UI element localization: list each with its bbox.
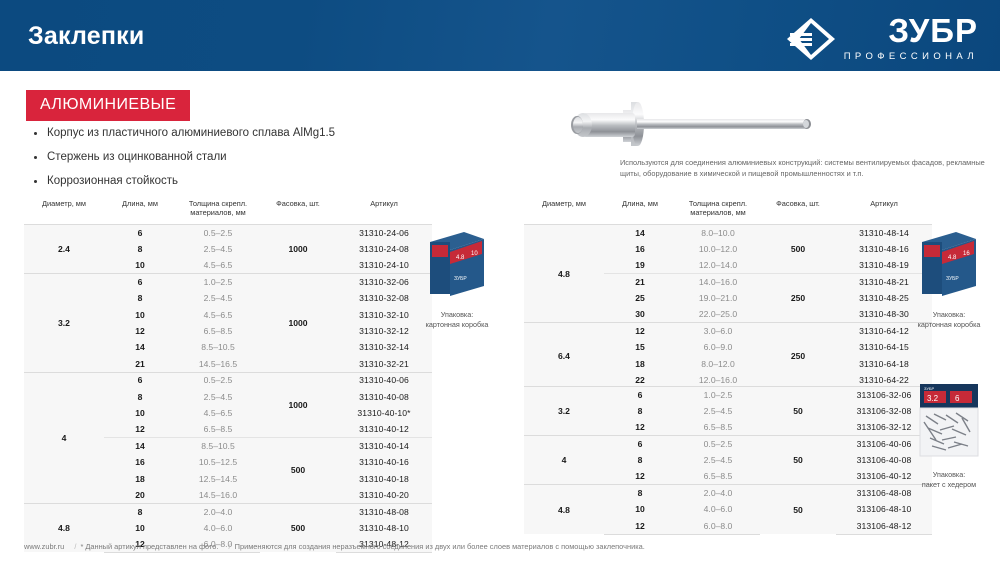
package-caption-line1: Упаковка: xyxy=(404,310,510,320)
table-aluminium-rivets-left: Диаметр, мм Длина, мм Толщина скрепл. ма… xyxy=(24,196,432,553)
table-body: 2.460.5–2.5100031310-24-0682.5–4.531310-… xyxy=(24,225,432,553)
bullet-icon xyxy=(34,132,37,135)
cell-thickness: 14.5–16.5 xyxy=(176,356,260,372)
col-header-length: Длина, мм xyxy=(604,196,676,225)
cell-article: 31310-32-14 xyxy=(336,339,432,355)
cell-length: 6 xyxy=(104,372,176,388)
footer-site[interactable]: www.zubr.ru xyxy=(24,542,64,551)
cell-thickness: 8.0–10.0 xyxy=(676,225,760,241)
cell-article: 31310-40-20 xyxy=(336,487,432,503)
package-caption-line1: Упаковка: xyxy=(896,310,1000,320)
cell-length: 12 xyxy=(604,468,676,484)
cell-thickness: 4.0–6.0 xyxy=(676,501,760,517)
bullet-icon xyxy=(34,156,37,159)
zubr-logo-icon xyxy=(785,16,837,62)
page-title: Заклепки xyxy=(28,22,144,51)
cell-article: 31310-32-21 xyxy=(336,356,432,372)
svg-text:10: 10 xyxy=(471,251,478,257)
list-item: Корпус из пластичного алюминиевого сплав… xyxy=(28,126,428,140)
cell-thickness: 0.5–2.5 xyxy=(676,436,760,452)
brand-name: ЗУБР xyxy=(888,14,978,47)
cell-length: 15 xyxy=(604,339,676,355)
svg-text:ЗУБР: ЗУБР xyxy=(924,386,935,391)
cell-thickness: 1.0–2.5 xyxy=(176,274,260,290)
cell-length: 8 xyxy=(604,403,676,419)
table-row: 460.5–2.550313106-40-06 xyxy=(524,436,932,452)
feature-list: Корпус из пластичного алюминиевого сплав… xyxy=(28,126,428,198)
cell-packing: 1000 xyxy=(260,274,336,372)
table-row: 2.460.5–2.5100031310-24-06 xyxy=(24,225,432,241)
cell-length: 10 xyxy=(104,520,176,536)
cell-article: 31310-40-18 xyxy=(336,470,432,486)
svg-text:3.2: 3.2 xyxy=(927,394,939,403)
feature-text: Стержень из оцинкованной стали xyxy=(47,150,227,164)
cell-length: 8 xyxy=(104,241,176,257)
list-item: Коррозионная стойкость xyxy=(28,174,428,188)
cell-length: 10 xyxy=(604,501,676,517)
cell-length: 10 xyxy=(104,306,176,322)
cell-diameter: 3.2 xyxy=(524,387,604,436)
cell-thickness: 8.0–12.0 xyxy=(676,356,760,372)
cell-length: 10 xyxy=(104,257,176,273)
cell-packing: 250 xyxy=(760,274,836,323)
col-header-packing: Фасовка, шт. xyxy=(760,196,836,225)
cell-length: 12 xyxy=(104,323,176,339)
cell-thickness: 4.5–6.5 xyxy=(176,257,260,273)
package-image-box-2: 4.8 16 ЗУБР Упаковка: картонная коробка xyxy=(896,228,1000,330)
cell-thickness: 2.5–4.5 xyxy=(676,452,760,468)
category-badge: АЛЮМИНИЕВЫЕ xyxy=(26,90,190,121)
cell-thickness: 14.5–16.0 xyxy=(176,487,260,503)
feature-text: Корпус из пластичного алюминиевого сплав… xyxy=(47,126,335,140)
footer-separator-2: / xyxy=(229,542,231,551)
cell-length: 18 xyxy=(604,356,676,372)
cell-thickness: 0.5–2.5 xyxy=(176,225,260,241)
cell-packing: 500 xyxy=(260,438,336,504)
rivet-product-image xyxy=(545,96,845,158)
cell-length: 21 xyxy=(604,274,676,290)
cell-thickness: 12.0–14.0 xyxy=(676,257,760,273)
package-caption-line2: картонная коробка xyxy=(404,320,510,330)
brand-logo: ЗУБР ПРОФЕССИОНАЛ xyxy=(785,14,978,62)
cell-thickness: 6.5–8.5 xyxy=(676,419,760,435)
cell-article: 31310-40-12 xyxy=(336,421,432,437)
cardboard-box-icon: 4.8 16 ЗУБР xyxy=(918,228,980,300)
cell-thickness: 10.5–12.5 xyxy=(176,454,260,470)
brand-subtitle: ПРОФЕССИОНАЛ xyxy=(844,51,978,62)
cell-length: 12 xyxy=(604,419,676,435)
bullet-icon xyxy=(34,180,37,183)
cell-thickness: 6.5–8.5 xyxy=(176,323,260,339)
catalog-page: Заклепки ЗУБР ПРОФЕССИОНАЛ АЛЮМИНИЕВЫЕ К… xyxy=(0,0,1000,562)
table-body: 3.261.0–2.550313106-32-0682.5–4.5313106-… xyxy=(524,387,932,535)
cell-length: 14 xyxy=(604,225,676,241)
table-row: 460.5–2.5100031310-40-06 xyxy=(24,372,432,388)
cell-length: 6 xyxy=(104,225,176,241)
cell-diameter: 3.2 xyxy=(24,274,104,372)
cell-length: 8 xyxy=(604,452,676,468)
cell-thickness: 3.0–6.0 xyxy=(676,323,760,339)
cell-article: 31310-40-08 xyxy=(336,388,432,404)
cell-diameter: 4.8 xyxy=(524,485,604,534)
cell-article: 31310-40-16 xyxy=(336,454,432,470)
cell-thickness: 2.0–4.0 xyxy=(176,503,260,519)
svg-text:6: 6 xyxy=(955,394,960,403)
svg-text:ЗУБР: ЗУБР xyxy=(454,276,467,282)
cell-packing: 1000 xyxy=(260,372,336,438)
cell-thickness: 1.0–2.5 xyxy=(676,387,760,403)
cell-thickness: 6.0–8.0 xyxy=(676,518,760,534)
cell-length: 12 xyxy=(104,421,176,437)
cell-article: 31310-48-10 xyxy=(336,520,432,536)
package-caption-line1: Упаковка: xyxy=(896,470,1000,480)
table-header-row: Диаметр, мм Длина, мм Толщина скрепл. ма… xyxy=(24,196,432,225)
svg-text:4.8: 4.8 xyxy=(948,255,957,261)
cell-length: 8 xyxy=(104,503,176,519)
cell-article: 31310-64-18 xyxy=(836,356,932,372)
cell-thickness: 6.5–8.5 xyxy=(676,468,760,484)
cell-length: 30 xyxy=(604,306,676,322)
table-row: 3.261.0–2.5100031310-32-06 xyxy=(24,274,432,290)
table-row: 3.261.0–2.550313106-32-06 xyxy=(524,387,932,403)
cell-article: 313106-48-12 xyxy=(836,518,932,534)
cell-thickness: 6.0–9.0 xyxy=(676,339,760,355)
footer-note-use: Применяются для создания неразъемного со… xyxy=(235,542,645,551)
cell-thickness: 2.5–4.5 xyxy=(676,403,760,419)
feature-text: Коррозионная стойкость xyxy=(47,174,178,188)
cell-packing: 50 xyxy=(760,485,836,534)
package-caption-line2: картонная коробка xyxy=(896,320,1000,330)
cell-length: 16 xyxy=(104,454,176,470)
cell-length: 20 xyxy=(104,487,176,503)
page-header: Заклепки ЗУБР ПРОФЕССИОНАЛ xyxy=(0,0,1000,74)
col-header-thickness: Толщина скрепл. материалов, мм xyxy=(676,196,760,225)
cell-length: 12 xyxy=(604,323,676,339)
cell-length: 8 xyxy=(604,485,676,501)
cell-thickness: 2.5–4.5 xyxy=(176,388,260,404)
table-row: 4.882.0–4.050031310-48-08 xyxy=(24,503,432,519)
cell-thickness: 2.0–4.0 xyxy=(676,485,760,501)
table-aluminium-rivets-right-bottom: 3.261.0–2.550313106-32-0682.5–4.5313106-… xyxy=(524,386,932,535)
cell-thickness: 6.5–8.5 xyxy=(176,421,260,437)
cell-article: 31310-64-15 xyxy=(836,339,932,355)
product-description: Используются для соединения алюминиевых … xyxy=(620,158,992,179)
header-bag-icon: 3.2 6 ЗУБР xyxy=(912,382,986,460)
cell-thickness: 22.0–25.0 xyxy=(676,306,760,322)
table-row: 4.882.0–4.050313106-48-08 xyxy=(524,485,932,501)
cell-article: 313106-48-10 xyxy=(836,501,932,517)
cell-length: 21 xyxy=(104,356,176,372)
cell-length: 6 xyxy=(104,274,176,290)
cell-length: 12 xyxy=(604,518,676,534)
cell-packing: 50 xyxy=(760,387,836,436)
table-row: 4.8148.0–10.050031310-48-14 xyxy=(524,225,932,241)
cell-length: 8 xyxy=(104,290,176,306)
cell-diameter: 2.4 xyxy=(24,225,104,274)
table-aluminium-rivets-right-top: Диаметр, мм Длина, мм Толщина скрепл. ма… xyxy=(524,196,932,389)
cell-article: 31310-48-08 xyxy=(336,503,432,519)
svg-text:ЗУБР: ЗУБР xyxy=(946,276,959,282)
cell-length: 10 xyxy=(104,405,176,421)
package-image-box-1: 4.8 10 ЗУБР Упаковка: картонная коробка xyxy=(404,228,510,330)
cell-article: 31310-40-14 xyxy=(336,438,432,454)
cell-length: 25 xyxy=(604,290,676,306)
cell-thickness: 2.5–4.5 xyxy=(176,241,260,257)
col-header-diameter: Диаметр, мм xyxy=(24,196,104,225)
cell-thickness: 8.5–10.5 xyxy=(176,438,260,454)
cardboard-box-icon: 4.8 10 ЗУБР xyxy=(426,228,488,300)
footer: www.zubr.ru / * Данный артикул представл… xyxy=(24,542,974,551)
cell-packing: 1000 xyxy=(260,225,336,274)
table-body: 4.8148.0–10.050031310-48-141610.0–12.031… xyxy=(524,225,932,389)
col-header-diameter: Диаметр, мм xyxy=(524,196,604,225)
cell-thickness: 4.5–6.5 xyxy=(176,405,260,421)
list-item: Стержень из оцинкованной стали xyxy=(28,150,428,164)
cell-diameter: 4 xyxy=(24,372,104,503)
cell-length: 18 xyxy=(104,470,176,486)
col-header-thickness: Толщина скрепл. материалов, мм xyxy=(176,196,260,225)
cell-diameter: 4.8 xyxy=(524,225,604,323)
cell-thickness: 2.5–4.5 xyxy=(176,290,260,306)
cell-thickness: 4.0–6.0 xyxy=(176,520,260,536)
svg-text:4.8: 4.8 xyxy=(456,255,465,261)
cell-packing: 500 xyxy=(760,225,836,274)
footer-separator-1: / xyxy=(74,542,76,551)
cell-diameter: 4 xyxy=(524,436,604,485)
cell-thickness: 19.0–21.0 xyxy=(676,290,760,306)
cell-length: 8 xyxy=(104,388,176,404)
table-row: 6.4123.0–6.025031310-64-12 xyxy=(524,323,932,339)
col-header-article: Артикул xyxy=(336,196,432,225)
cell-length: 6 xyxy=(604,387,676,403)
cell-packing: 50 xyxy=(760,436,836,485)
cell-length: 14 xyxy=(104,339,176,355)
cell-thickness: 0.5–2.5 xyxy=(176,372,260,388)
cell-packing: 250 xyxy=(760,323,836,389)
col-header-length: Длина, мм xyxy=(104,196,176,225)
cell-length: 19 xyxy=(604,257,676,273)
package-caption-line2: пакет с хедером xyxy=(896,480,1000,490)
cell-article: 31310-40-06 xyxy=(336,372,432,388)
cell-thickness: 14.0–16.0 xyxy=(676,274,760,290)
package-image-bag: 3.2 6 ЗУБР Упаковка: пакет с хедером xyxy=(896,382,1000,490)
cell-thickness: 10.0–12.0 xyxy=(676,241,760,257)
cell-thickness: 12.5–14.5 xyxy=(176,470,260,486)
table-header-row: Диаметр, мм Длина, мм Толщина скрепл. ма… xyxy=(524,196,932,225)
cell-thickness: 4.5–6.5 xyxy=(176,306,260,322)
svg-text:16: 16 xyxy=(963,251,970,257)
cell-diameter: 6.4 xyxy=(524,323,604,389)
col-header-packing: Фасовка, шт. xyxy=(260,196,336,225)
cell-length: 14 xyxy=(104,438,176,454)
footer-note-star: * Данный артикул представлен на фото. xyxy=(80,542,218,551)
cell-thickness: 8.5–10.5 xyxy=(176,339,260,355)
cell-length: 6 xyxy=(604,436,676,452)
col-header-article: Артикул xyxy=(836,196,932,225)
cell-article: 31310-40-10* xyxy=(336,405,432,421)
cell-length: 16 xyxy=(604,241,676,257)
